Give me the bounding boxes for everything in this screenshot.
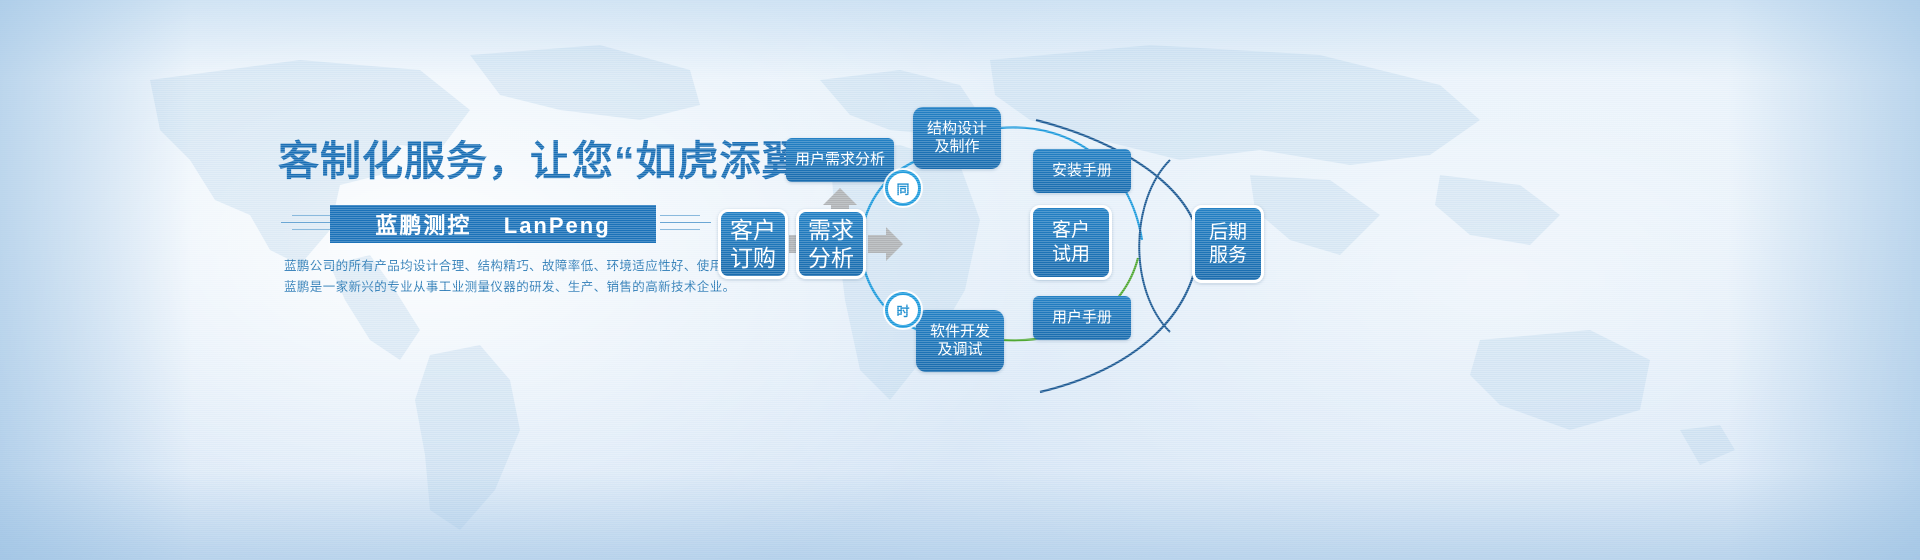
service-flow-diagram: 用户需求分析 客户 订购 需求 分析 结构设计 及制作 软件开发 及调试 安装手… xyxy=(700,0,1920,560)
node-structure-design[interactable]: 结构设计 及制作 xyxy=(913,107,1001,169)
tagline-deco-line xyxy=(281,222,332,223)
badge-shi: 时 xyxy=(885,292,921,328)
description-line-2: 蓝鹏是一家新兴的专业从事工业测量仪器的研发、生产、销售的高新技术企业。 xyxy=(284,276,684,295)
brand-name: 蓝鹏测控 LanPeng xyxy=(330,205,656,243)
badge-tong: 同 xyxy=(885,170,921,206)
flow-connectors xyxy=(700,0,1920,560)
brand-tagline-bar: 蓝鹏测控 LanPeng xyxy=(330,205,656,243)
tagline-deco-line xyxy=(660,229,700,230)
node-demand-analysis[interactable]: 需求 分析 xyxy=(796,209,866,279)
customization-service-banner: 客制化服务，让您“如虎添翼” 蓝鹏测控 LanPeng 蓝鹏公司的所有产品均设计… xyxy=(0,0,1920,560)
node-software-development[interactable]: 软件开发 及调试 xyxy=(916,310,1004,372)
tagline-deco-line xyxy=(660,215,700,216)
node-after-service[interactable]: 后期 服务 xyxy=(1192,205,1264,283)
node-user-manual[interactable]: 用户手册 xyxy=(1033,296,1131,340)
node-user-requirement[interactable]: 用户需求分析 xyxy=(786,138,894,182)
banner-text-block: 客制化服务，让您“如虎添翼” 蓝鹏测控 LanPeng 蓝鹏公司的所有产品均设计… xyxy=(0,0,720,560)
tagline-deco-line xyxy=(292,215,332,216)
description-line-1: 蓝鹏公司的所有产品均设计合理、结构精巧、故障率低、环境适应性好、使用寿命长。 xyxy=(284,255,684,274)
node-customer-order[interactable]: 客户 订购 xyxy=(718,209,788,279)
node-install-manual[interactable]: 安装手册 xyxy=(1033,149,1131,193)
node-customer-trial[interactable]: 客户 试用 xyxy=(1030,205,1112,280)
tagline-deco-line xyxy=(292,229,332,230)
